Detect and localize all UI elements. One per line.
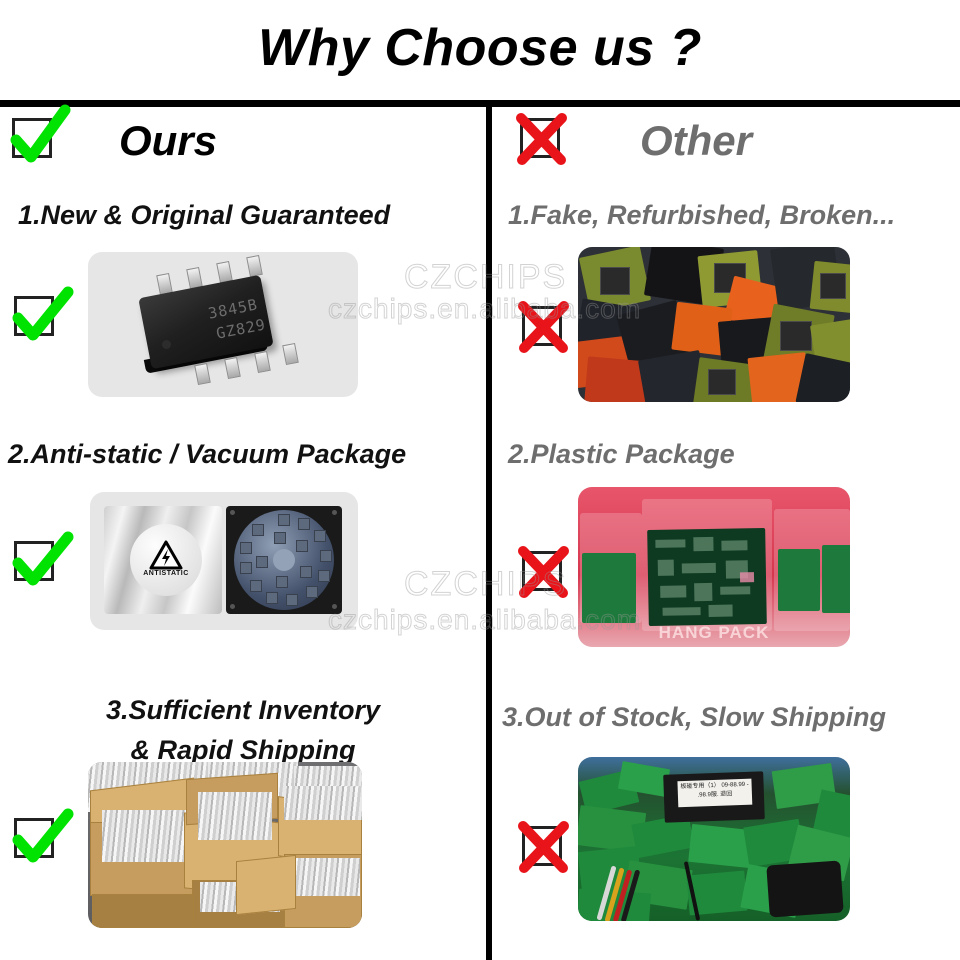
cross-glyph <box>516 112 572 168</box>
column-divider-vertical <box>486 103 492 960</box>
check-glyph <box>10 535 74 591</box>
cross-mark-header-other <box>516 112 568 164</box>
cross-glyph <box>518 820 574 876</box>
other-item-1-text: 1.Fake, Refurbished, Broken... <box>508 198 958 232</box>
ours-item-2-text: 2.Anti-static / Vacuum Package <box>8 437 478 471</box>
cross-mark-other-1 <box>518 300 570 352</box>
column-label-ours: Ours <box>0 112 486 170</box>
scrap-chips-photo <box>578 247 850 402</box>
check-glyph <box>10 290 74 346</box>
page-title: Why Choose us ? <box>0 18 960 78</box>
pcb-scrap-photo: 板碰专用（1） 09-88.99 - .98.9服. 退回 <box>578 757 850 921</box>
black-pad-object <box>766 860 843 917</box>
check-glyph <box>10 812 74 868</box>
column-header-ours: Ours <box>0 108 486 174</box>
esd-warning-triangle-icon <box>149 540 183 570</box>
other-item-2-text: 2.Plastic Package <box>508 437 958 471</box>
header-divider-horizontal <box>0 100 960 107</box>
labeled-black-module: 板碰专用（1） 09-88.99 - .98.9服. 退回 <box>663 771 765 822</box>
cross-glyph <box>518 300 574 356</box>
check-mark-ours-2 <box>10 535 62 587</box>
plastic-package-photo: HANG PACK <box>578 487 850 647</box>
component-reel <box>234 510 334 610</box>
check-mark-ours-1 <box>10 290 62 342</box>
component-reel-case <box>226 506 342 614</box>
bag-brand-text: HANG PACK <box>578 623 850 643</box>
cross-mark-other-3 <box>518 820 570 872</box>
check-mark-ours-3 <box>10 812 62 864</box>
antistatic-disc: ANTISTATIC <box>130 524 202 596</box>
antistatic-label: ANTISTATIC <box>130 570 202 577</box>
cross-glyph <box>518 545 574 601</box>
antistatic-bag: ANTISTATIC <box>104 506 222 614</box>
why-choose-us-infographic: Why Choose us ? Ours Other 1.New & Origi… <box>0 0 960 960</box>
ours-item-3-text: 3.Sufficient Inventory & Rapid Shipping <box>18 690 468 770</box>
module-label-text: 板碰专用（1） 09-88.99 - .98.9服. 退回 <box>677 779 752 808</box>
ours-item-1-text: 1.New & Original Guaranteed <box>18 198 468 232</box>
other-item-3-text: 3.Out of Stock, Slow Shipping <box>502 700 958 734</box>
check-glyph <box>8 112 72 172</box>
inventory-boxes-photo <box>88 762 362 928</box>
antistatic-package-photo: ANTISTATIC <box>90 492 358 630</box>
ic-chip-photo: 3845B GZ829 <box>88 252 358 397</box>
pcb-board-main <box>647 528 767 626</box>
cross-mark-other-2 <box>518 545 570 597</box>
check-mark-header-ours <box>8 112 60 164</box>
